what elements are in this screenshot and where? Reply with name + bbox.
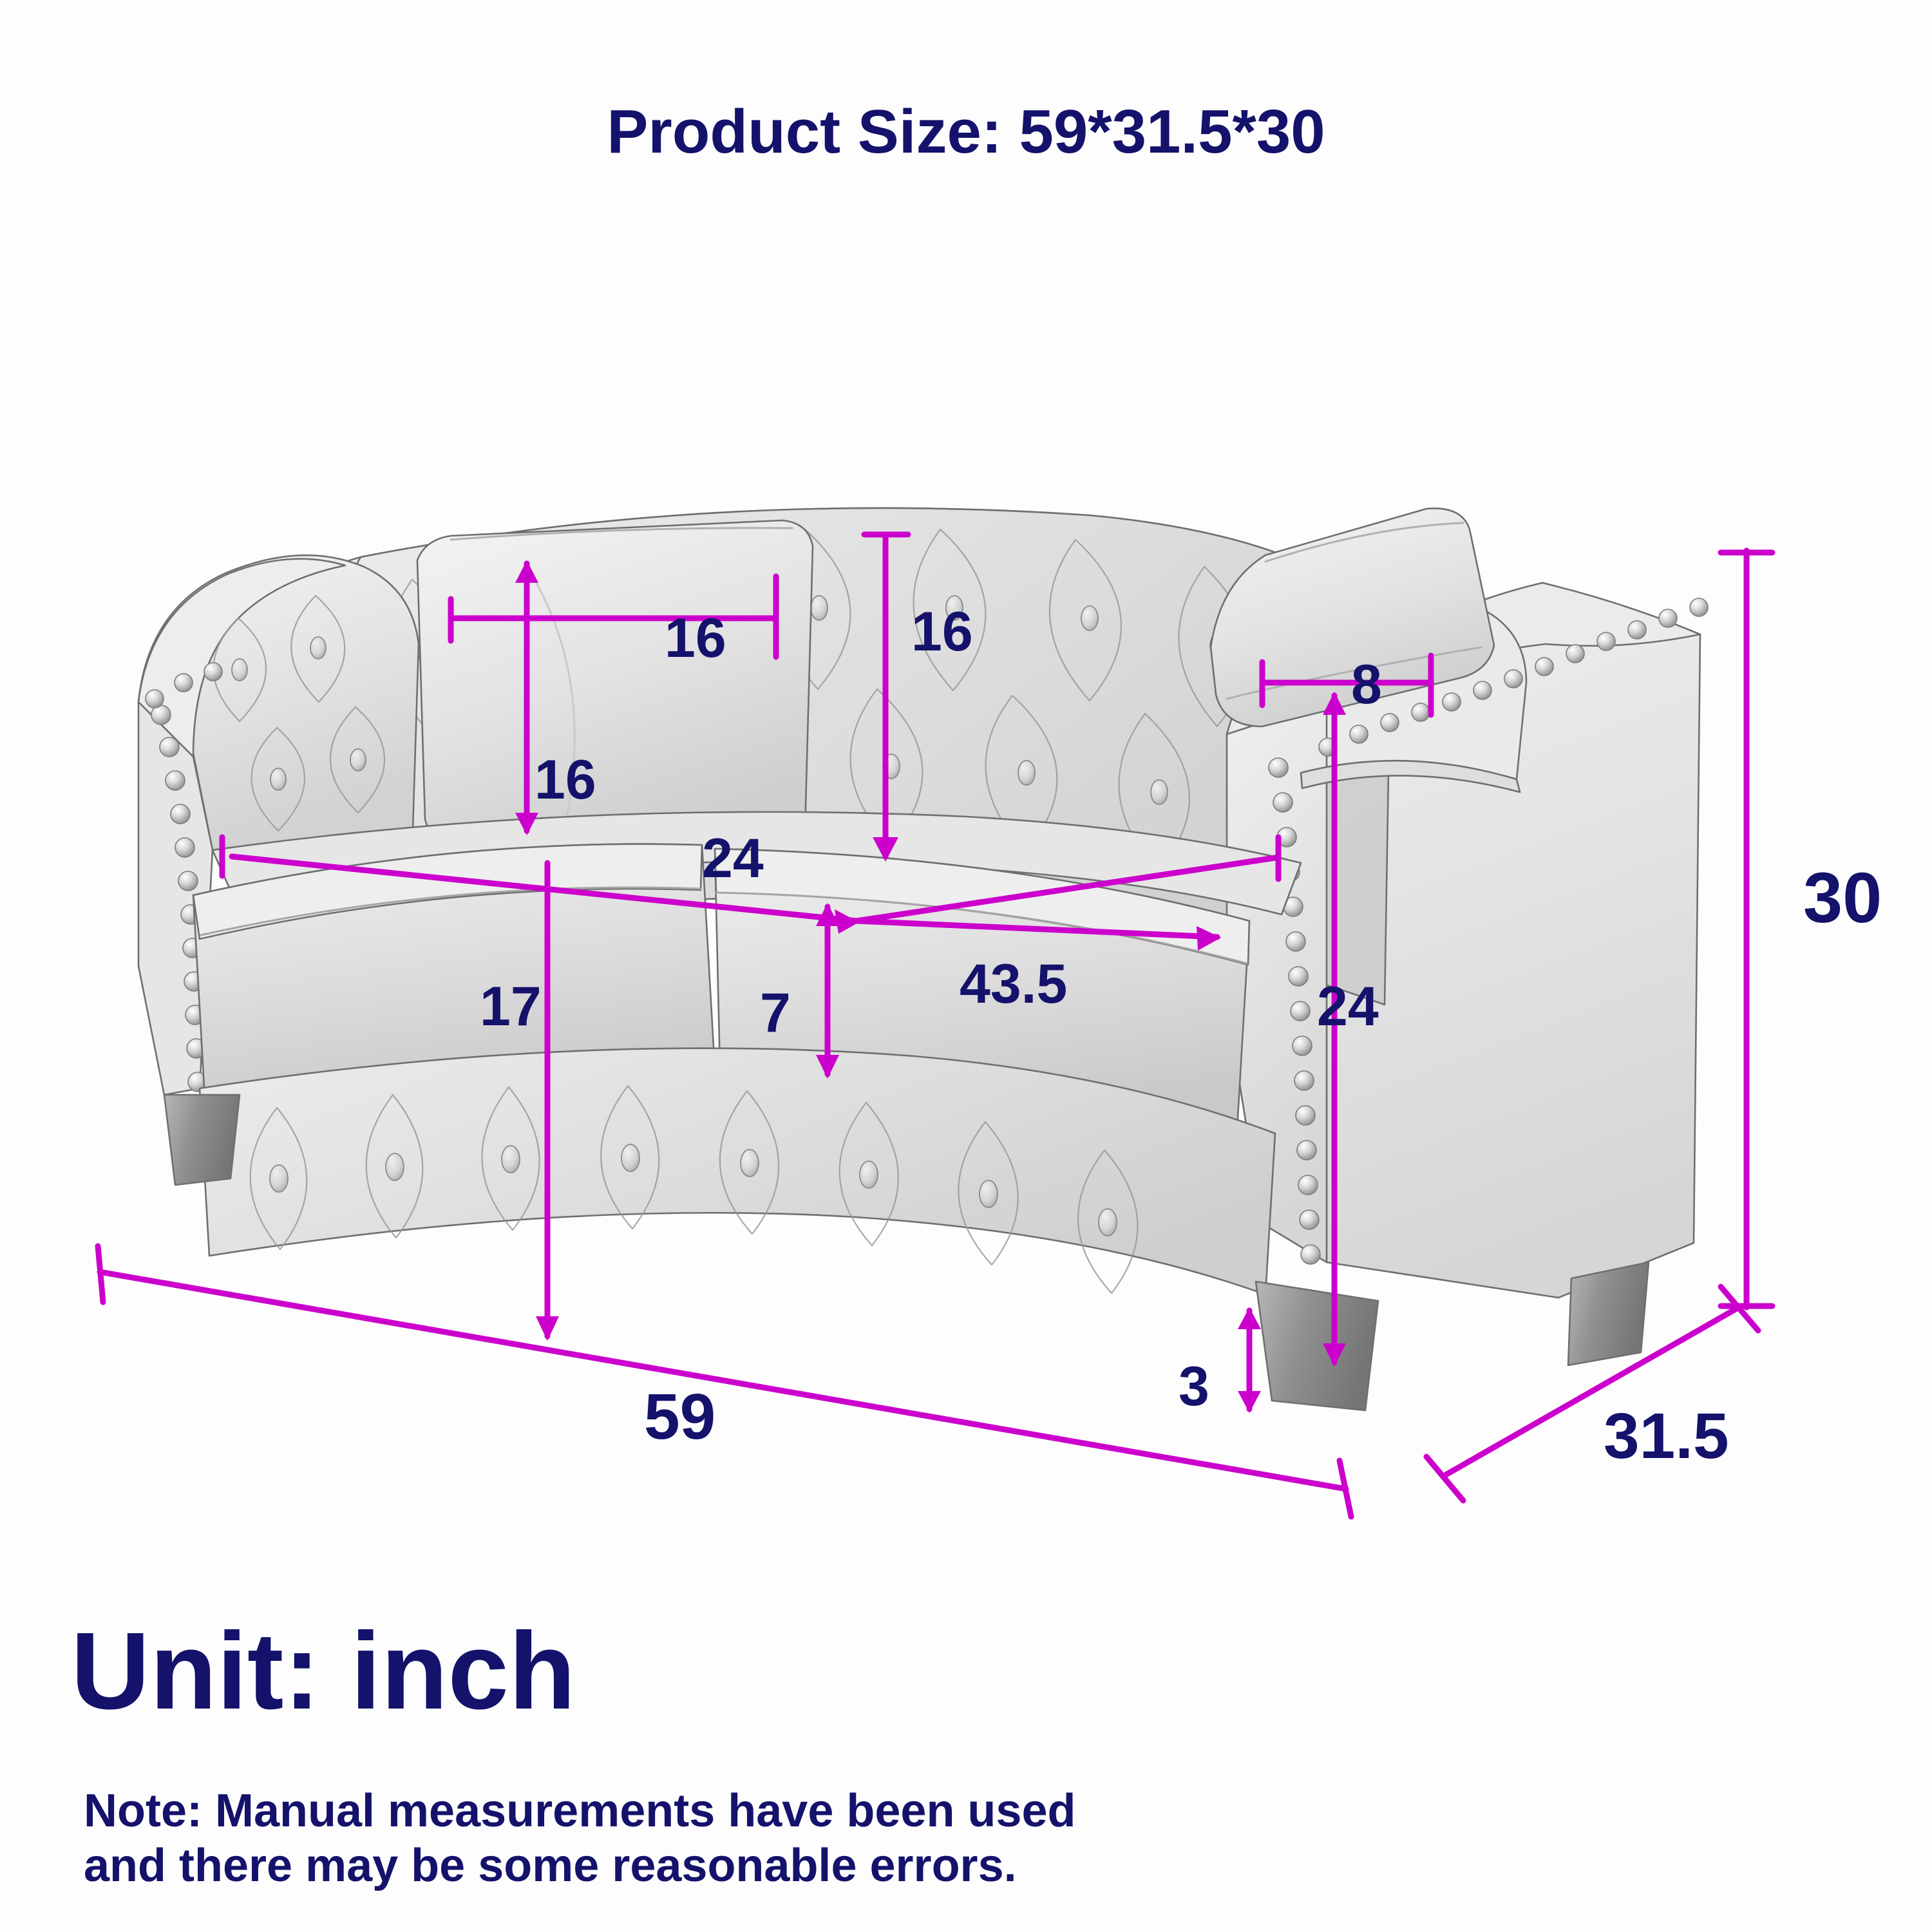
dim-label-arm-height: 24 xyxy=(1317,979,1379,1034)
dimline-seat-height xyxy=(536,863,559,1341)
dimline-overall-height xyxy=(1721,551,1772,1307)
dimline-seat-width xyxy=(857,921,1221,951)
dimline-backrest-height xyxy=(864,535,908,862)
measurement-note: Note: Manual measurements have been used… xyxy=(84,1784,1075,1893)
dim-label-overall-depth: 31.5 xyxy=(1604,1404,1729,1468)
dim-label-backrest-height: 16 xyxy=(911,604,973,659)
dim-label-seat-width: 43.5 xyxy=(960,956,1067,1012)
dim-label-overall-height: 30 xyxy=(1803,863,1882,934)
unit-label: Unit: inch xyxy=(71,1616,576,1726)
dim-label-cushion-thickness: 7 xyxy=(760,985,791,1041)
dim-label-pillow-height: 16 xyxy=(535,752,596,808)
dimline-leg-height xyxy=(1238,1307,1261,1413)
dim-label-seat-depth: 24 xyxy=(702,831,764,886)
dim-label-overall-width: 59 xyxy=(644,1385,715,1449)
dim-label-seat-height: 17 xyxy=(480,979,542,1034)
dim-label-arm-width: 8 xyxy=(1351,657,1382,712)
dimline-pillow-width xyxy=(451,576,776,657)
dimline-cushion-thickness xyxy=(816,903,839,1079)
dimline-arm-width xyxy=(1262,656,1431,715)
diagram-canvas: Product Size: 59*31.5*30 16 16 16 8 24 1… xyxy=(0,0,1932,1932)
dim-label-leg-height: 3 xyxy=(1179,1359,1209,1414)
dimline-overall-width xyxy=(98,1246,1351,1517)
page-title: Product Size: 59*31.5*30 xyxy=(0,97,1932,167)
dim-label-pillow-width: 16 xyxy=(665,611,726,666)
